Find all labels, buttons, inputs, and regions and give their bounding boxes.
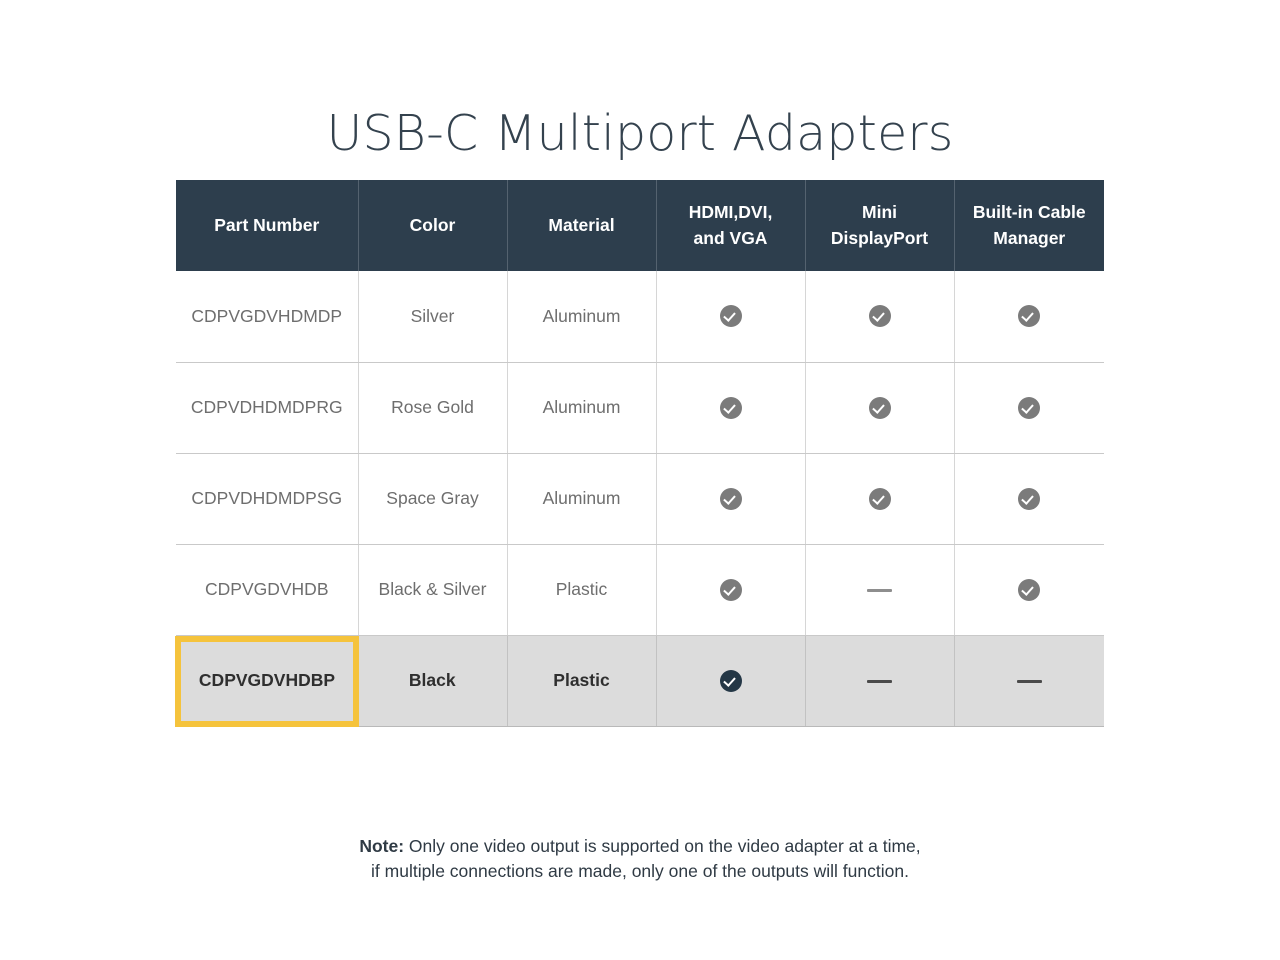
table-row: CDPVGDVHDB Black & Silver Plastic bbox=[176, 544, 1104, 635]
check-icon bbox=[1018, 579, 1040, 601]
dash-icon bbox=[1017, 680, 1042, 683]
table-row-highlighted: CDPVGDVHDBP Black Plastic bbox=[176, 635, 1104, 726]
footnote-line-1: Note: Only one video output is supported… bbox=[0, 834, 1280, 859]
table-header: Part Number Color Material HDMI,DVI, and… bbox=[176, 180, 1104, 271]
cell-color: Black & Silver bbox=[358, 544, 507, 635]
cell-mini-displayport bbox=[805, 453, 954, 544]
header-line-2: and VGA bbox=[694, 228, 768, 248]
column-header-color: Color bbox=[358, 180, 507, 271]
footnote-text-1: Only one video output is supported on th… bbox=[404, 836, 921, 856]
cell-color: Space Gray bbox=[358, 453, 507, 544]
column-header-material: Material bbox=[507, 180, 656, 271]
check-icon bbox=[1018, 397, 1040, 419]
footnote-label: Note: bbox=[359, 836, 404, 856]
header-line-1: Part Number bbox=[214, 215, 319, 235]
cell-color: Black bbox=[358, 635, 507, 726]
cell-mini-displayport bbox=[805, 362, 954, 453]
header-line-1: Material bbox=[548, 215, 614, 235]
column-header-part-number: Part Number bbox=[176, 180, 358, 271]
cell-cable-manager bbox=[954, 271, 1104, 362]
column-header-mini-displayport: Mini DisplayPort bbox=[805, 180, 954, 271]
cell-material: Plastic bbox=[507, 544, 656, 635]
cell-color: Rose Gold bbox=[358, 362, 507, 453]
cell-material: Aluminum bbox=[507, 453, 656, 544]
cell-hdmi-dvi-vga bbox=[656, 635, 805, 726]
header-line-2: Manager bbox=[993, 228, 1065, 248]
header-line-1: HDMI,DVI, bbox=[689, 202, 773, 222]
header-line-1: Built-in Cable bbox=[973, 202, 1086, 222]
table-row: CDPVDHDMDPRG Rose Gold Aluminum bbox=[176, 362, 1104, 453]
cell-mini-displayport bbox=[805, 544, 954, 635]
comparison-table-wrapper: Part Number Color Material HDMI,DVI, and… bbox=[176, 180, 1104, 727]
table-body: CDPVGDVHDMDP Silver Aluminum CDPVDHDMDPR… bbox=[176, 271, 1104, 726]
cell-cable-manager bbox=[954, 544, 1104, 635]
cell-cable-manager bbox=[954, 453, 1104, 544]
check-icon bbox=[1018, 305, 1040, 327]
check-icon bbox=[720, 397, 742, 419]
cell-material: Aluminum bbox=[507, 271, 656, 362]
footnote: Note: Only one video output is supported… bbox=[0, 834, 1280, 884]
dash-icon bbox=[867, 589, 892, 592]
table-row: CDPVGDVHDMDP Silver Aluminum bbox=[176, 271, 1104, 362]
spec-sheet-page: USB-C Multiport Adapters Part Number Col… bbox=[0, 0, 1280, 960]
column-header-hdmi-dvi-vga: HDMI,DVI, and VGA bbox=[656, 180, 805, 271]
check-icon bbox=[869, 305, 891, 327]
column-header-cable-manager: Built-in Cable Manager bbox=[954, 180, 1104, 271]
cell-part-number: CDPVDHDMDPSG bbox=[176, 453, 358, 544]
cell-cable-manager bbox=[954, 635, 1104, 726]
cell-hdmi-dvi-vga bbox=[656, 362, 805, 453]
header-line-2: DisplayPort bbox=[831, 228, 928, 248]
footnote-line-2: if multiple connections are made, only o… bbox=[0, 859, 1280, 884]
cell-part-number-text: CDPVGDVHDBP bbox=[199, 670, 335, 690]
header-row: Part Number Color Material HDMI,DVI, and… bbox=[176, 180, 1104, 271]
check-icon bbox=[720, 488, 742, 510]
adapter-comparison-table: Part Number Color Material HDMI,DVI, and… bbox=[176, 180, 1104, 727]
cell-hdmi-dvi-vga bbox=[656, 544, 805, 635]
check-icon bbox=[869, 397, 891, 419]
cell-mini-displayport bbox=[805, 271, 954, 362]
cell-part-number: CDPVGDVHDMDP bbox=[176, 271, 358, 362]
cell-material: Plastic bbox=[507, 635, 656, 726]
cell-mini-displayport bbox=[805, 635, 954, 726]
cell-material: Aluminum bbox=[507, 362, 656, 453]
check-icon bbox=[1018, 488, 1040, 510]
cell-hdmi-dvi-vga bbox=[656, 271, 805, 362]
header-line-1: Mini bbox=[862, 202, 897, 222]
cell-part-number: CDPVDHDMDPRG bbox=[176, 362, 358, 453]
cell-part-number: CDPVGDVHDB bbox=[176, 544, 358, 635]
header-line-1: Color bbox=[410, 215, 456, 235]
cell-cable-manager bbox=[954, 362, 1104, 453]
cell-part-number: CDPVGDVHDBP bbox=[176, 635, 358, 726]
table-row: CDPVDHDMDPSG Space Gray Aluminum bbox=[176, 453, 1104, 544]
check-icon bbox=[869, 488, 891, 510]
dash-icon bbox=[867, 680, 892, 683]
page-title: USB-C Multiport Adapters bbox=[0, 107, 1280, 161]
check-icon bbox=[720, 305, 742, 327]
cell-hdmi-dvi-vga bbox=[656, 453, 805, 544]
check-icon bbox=[720, 579, 742, 601]
cell-color: Silver bbox=[358, 271, 507, 362]
check-icon bbox=[720, 670, 742, 692]
